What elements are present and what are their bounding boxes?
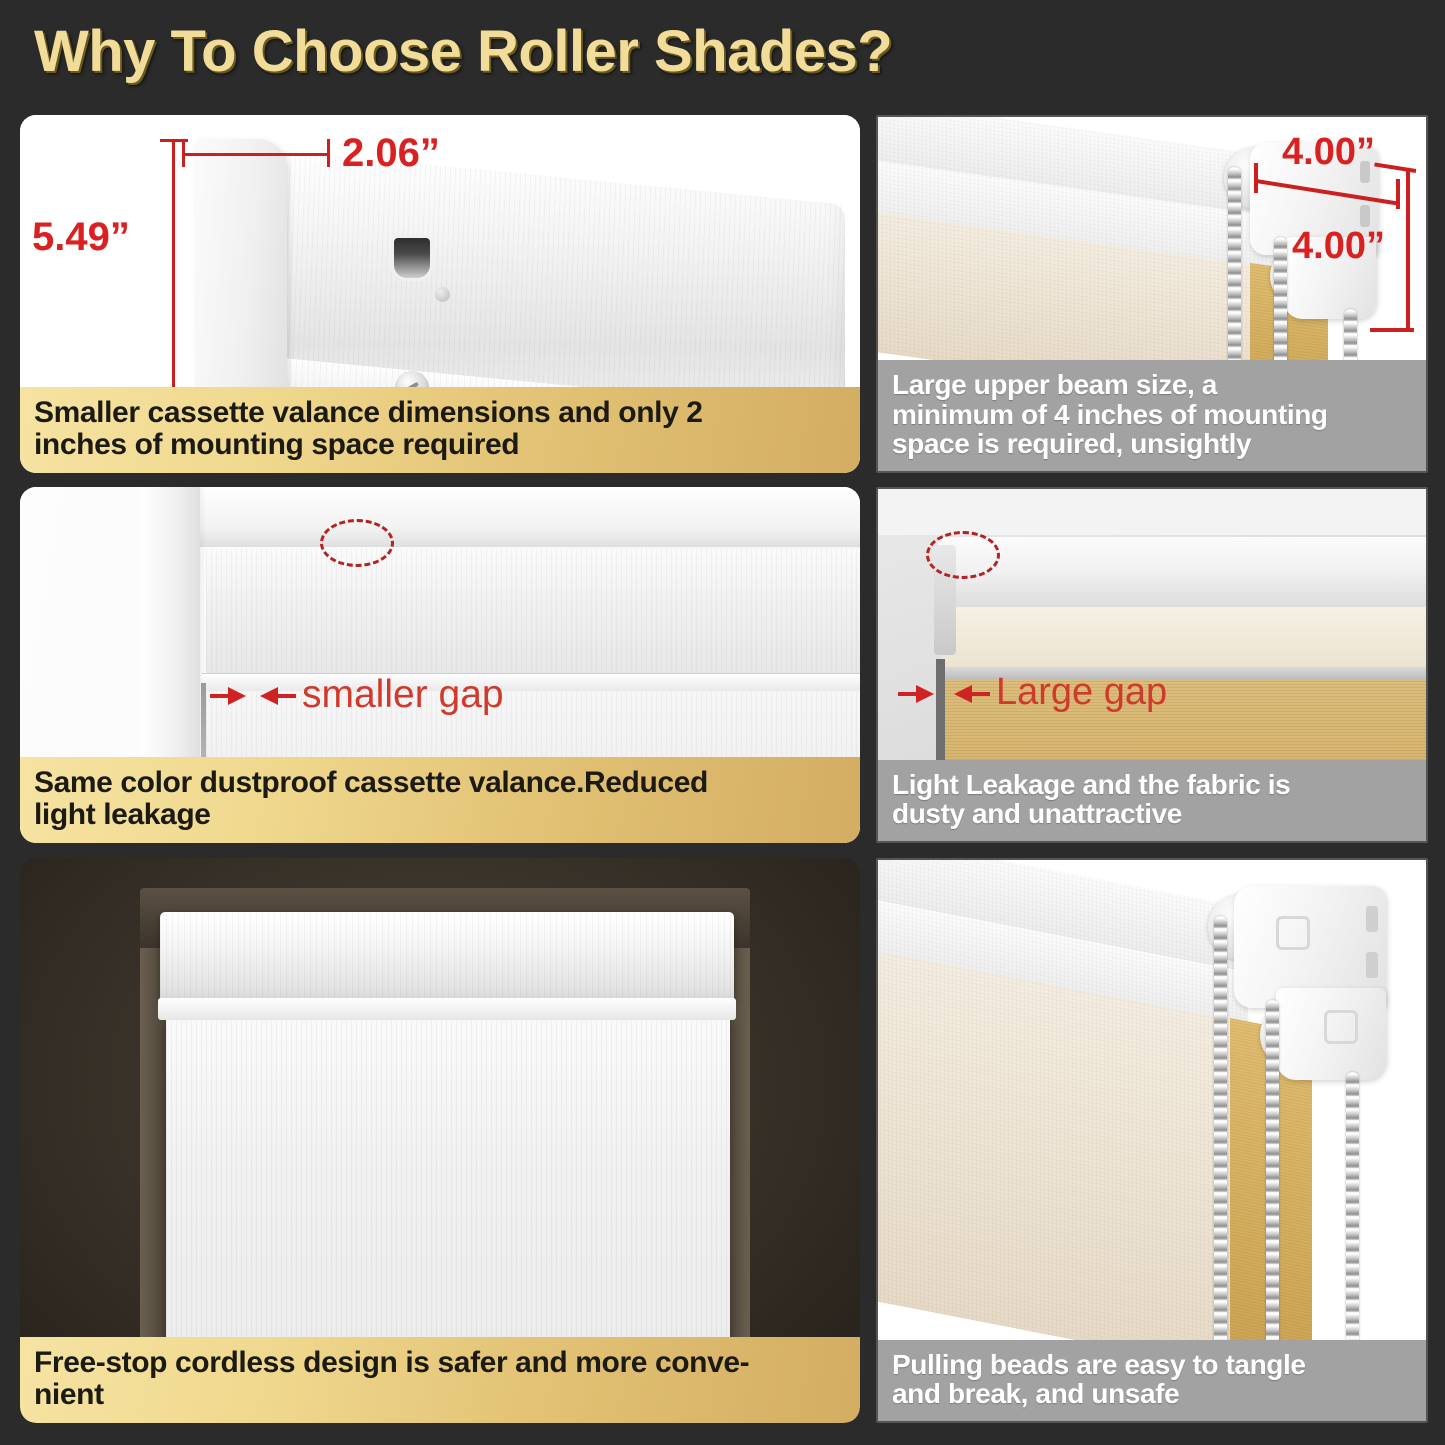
panel-smaller-cassette: 2.06” 5.49” Smaller cassette valance dim… xyxy=(20,115,860,473)
beam-height-label: 4.00” xyxy=(1292,225,1385,268)
bracket-keyhole-2 xyxy=(1366,952,1378,978)
bracket-screw-small xyxy=(435,287,450,302)
gap-arrow-left-stem xyxy=(210,694,230,698)
bracket-keyhole-1 xyxy=(1366,906,1378,932)
gap-arrow-right-stem xyxy=(276,694,296,698)
beam-width-label: 4.00” xyxy=(1282,131,1375,174)
beam-width-tick-left xyxy=(1254,163,1258,193)
large-gap-label: Large gap xyxy=(996,671,1167,714)
caption-line: Smaller cassette valance dimensions and … xyxy=(34,397,846,429)
bracket-keyhole-2 xyxy=(1360,205,1370,227)
panel-4-caption: Light Leakage and the fabric is dusty an… xyxy=(878,760,1426,841)
valance-front-lip xyxy=(158,998,736,1020)
panel-pulling-beads: Pulling beads are easy to tangle and bre… xyxy=(876,858,1428,1423)
upper-beam xyxy=(938,537,1426,609)
caption-line: Large upper beam size, a xyxy=(892,370,1412,400)
bead-chain-tail xyxy=(1346,1072,1359,1372)
caption-line: inches of mounting space required xyxy=(34,429,846,461)
bead-chain-front xyxy=(1214,916,1227,1371)
width-dim-line xyxy=(182,153,330,156)
width-dim-tick-right xyxy=(327,139,330,167)
fabric-cream-band xyxy=(942,607,1426,669)
window-head-trim xyxy=(140,487,860,547)
gap-arrow-left-stem xyxy=(898,692,918,696)
caption-line: light leakage xyxy=(34,799,846,831)
panel-5-caption: Free-stop cordless design is safer and m… xyxy=(20,1337,860,1423)
caption-line: Same color dustproof cassette valance.Re… xyxy=(34,767,846,799)
bracket-emblem-upper xyxy=(1276,916,1310,950)
panel-1-caption: Smaller cassette valance dimensions and … xyxy=(20,387,860,473)
page-title: Why To Choose Roller Shades? xyxy=(34,18,892,85)
bead-chain-middle xyxy=(1266,1000,1279,1372)
valance-bottom-rail xyxy=(202,673,860,691)
panel-6-caption: Pulling beads are easy to tangle and bre… xyxy=(878,1340,1426,1421)
infographic-root: Why To Choose Roller Shades? 2.06” 5.49” xyxy=(0,0,1445,1445)
caption-line: and break, and unsafe xyxy=(892,1379,1412,1409)
caption-line: space is required, unsightly xyxy=(892,429,1412,459)
height-dim-tick-top xyxy=(160,139,188,142)
caption-line: Free-stop cordless design is safer and m… xyxy=(34,1347,846,1379)
cassette-valance xyxy=(160,912,734,1000)
panel-6-photo xyxy=(878,860,1426,1421)
height-dimension-label: 5.49” xyxy=(32,215,130,260)
cassette-valance-face xyxy=(206,549,860,677)
width-dimension-label: 2.06” xyxy=(342,131,440,176)
panel-large-upper-beam: 4.00” 4.00” Large upper beam size, a min… xyxy=(876,115,1428,473)
gap-highlight-circle xyxy=(926,531,1000,579)
caption-line: minimum of 4 inches of mounting xyxy=(892,400,1412,430)
bracket-emblem-lower xyxy=(1324,1010,1358,1044)
width-dim-tick-left xyxy=(182,139,185,167)
panel-cordless-design: Free-stop cordless design is safer and m… xyxy=(20,858,860,1423)
caption-line: Pulling beads are easy to tangle xyxy=(892,1350,1412,1380)
beam-height-tick-bottom xyxy=(1370,328,1414,332)
gap-arrow-left-icon xyxy=(916,685,934,703)
panel-3-caption: Same color dustproof cassette valance.Re… xyxy=(20,757,860,843)
bracket-slot xyxy=(391,235,433,281)
roller-shade-fabric xyxy=(166,1018,730,1348)
smaller-gap-label: smaller gap xyxy=(302,673,504,717)
caption-line: dusty and unattractive xyxy=(892,799,1412,829)
panel-dustproof-valance: smaller gap Same color dustproof cassett… xyxy=(20,487,860,843)
caption-line: nient xyxy=(34,1379,846,1411)
caption-line: Light Leakage and the fabric is xyxy=(892,770,1412,800)
gap-arrow-right-stem xyxy=(970,692,990,696)
beam-width-tick-right xyxy=(1396,179,1400,209)
panel-light-leakage: Large gap Light Leakage and the fabric i… xyxy=(876,487,1428,843)
gap-arrow-left-icon xyxy=(228,687,246,705)
panel-2-caption: Large upper beam size, a minimum of 4 in… xyxy=(878,360,1426,471)
ceiling-band xyxy=(878,489,1426,535)
beam-height-dim-line xyxy=(1406,169,1410,331)
gap-highlight-circle xyxy=(320,519,394,567)
